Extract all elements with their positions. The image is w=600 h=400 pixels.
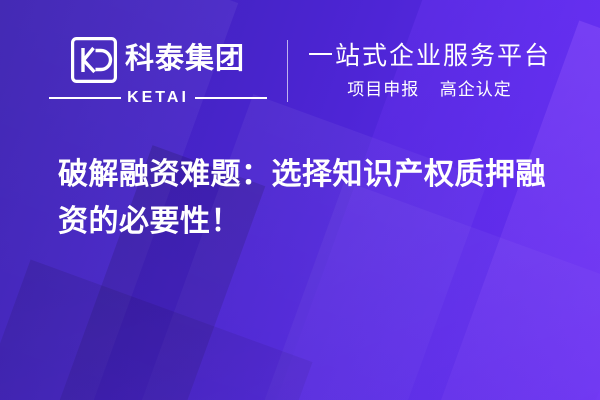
slogan-sub: 项目申报 高企认定 <box>347 80 511 100</box>
page-title: 破解融资难题：选择知识产权质押融资的必要性！ <box>58 152 563 245</box>
brand-name-latin: KETAI <box>127 90 189 106</box>
brand-logo: 科泰集团 KETAI <box>49 37 267 106</box>
decorative-shape-7 <box>0 260 313 400</box>
brand-rule-left <box>49 97 121 99</box>
slogan-sub-second: 高企认定 <box>440 80 512 99</box>
decorative-shape-3 <box>62 94 488 400</box>
banner-header: 科泰集团 KETAI 一站式企业服务平台 项目申报 高企认定 <box>0 30 600 112</box>
brand-name-cn: 科泰集团 <box>125 45 245 74</box>
ketai-kd-monogram-icon <box>71 37 117 83</box>
brand-slogan: 一站式企业服务平台 项目申报 高企认定 <box>308 41 551 100</box>
header-divider <box>287 40 288 102</box>
slogan-sub-first: 项目申报 <box>347 80 419 99</box>
brand-rule-right <box>195 97 267 99</box>
promo-banner: 科泰集团 KETAI 一站式企业服务平台 项目申报 高企认定 破解融资难题：选择… <box>0 0 600 400</box>
brand-latin-row: KETAI <box>49 90 267 106</box>
slogan-main: 一站式企业服务平台 <box>308 41 551 71</box>
brand-logo-top: 科泰集团 <box>71 37 245 83</box>
